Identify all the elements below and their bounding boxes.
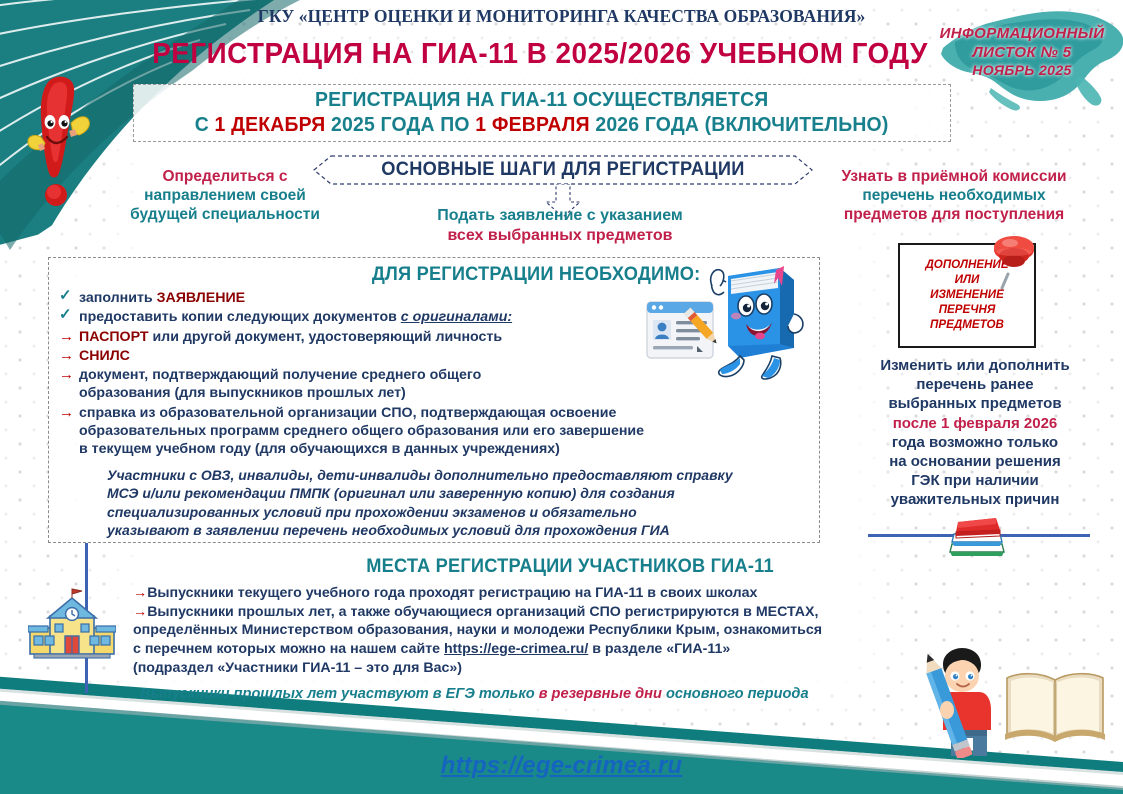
- right-note-line3: выбранных предметов: [840, 394, 1110, 413]
- requirement-6-line3: в текущем учебном году (для обучающихся …: [79, 441, 560, 457]
- disability-note-line4: указывают в заявлении перечень необходим…: [107, 521, 797, 539]
- callout-right-line1: Узнать в приёмной комиссии: [808, 168, 1100, 187]
- requirement-item-6: → справка из образовательной организации…: [59, 404, 699, 459]
- places-item-1: →Выпускники текущего учебного года прохо…: [133, 584, 923, 603]
- callout-left-line2: направлением своей: [110, 187, 340, 206]
- check-icon: ✓: [59, 305, 72, 324]
- subject-change-line5: ПРЕДМЕТОВ: [930, 318, 1004, 333]
- registration-period-line1: РЕГИСТРАЦИЯ НА ГИА-11 ОСУЩЕСТВЛЯЕТСЯ: [315, 89, 768, 112]
- places-title: МЕСТА РЕГИСТРАЦИИ УЧАСТНИКОВ ГИА-11: [138, 556, 1002, 578]
- period-suffix: 2026 ГОДА (ВКЛЮЧИТЕЛЬНО): [590, 114, 889, 136]
- reserve-days-note: Выпускники прошлых лет участвуют в ЕГЭ т…: [140, 686, 940, 702]
- right-note-line2: перечень ранее: [840, 375, 1110, 394]
- arrow-right-icon: →: [133, 604, 147, 620]
- period-middle: 2025 ГОДА ПО: [326, 114, 476, 136]
- requirements-list: ✓ заполнить ЗАЯВЛЕНИЕ ✓ предоставить коп…: [59, 289, 699, 459]
- requirement-5-line2: образования (для выпускников прошлых лет…: [79, 385, 406, 401]
- bulletin-label: ИНФОРМАЦИОННЫЙ ЛИСТОК № 5 НОЯБРЬ 2025: [929, 24, 1115, 80]
- pushpin-icon: [988, 230, 1044, 290]
- exclamation-mascot-icon: [25, 75, 95, 215]
- requirement-1-keyword: ЗАЯВЛЕНИЕ: [157, 290, 246, 306]
- callout-left-line3: будущей специальности: [110, 206, 340, 225]
- ege-crimea-inline-link[interactable]: https://ege-crimea.ru/: [444, 641, 588, 657]
- callout-left-line1: Определиться с: [110, 168, 340, 187]
- disability-note: Участники с ОВЗ, инвалиды, дети-инвалиды…: [107, 466, 797, 540]
- arrow-right-icon: →: [133, 585, 147, 601]
- requirements-title: ДЛЯ РЕГИСТРАЦИИ НЕОБХОДИМО:: [372, 264, 701, 286]
- callout-right-line2: перечень необходимых: [808, 187, 1100, 206]
- disability-note-line2: МСЭ и/или рекомендации ПМПК (оригинал ил…: [107, 484, 797, 502]
- book-character-icon: [690, 252, 808, 380]
- requirement-3-keyword: ПАСПОРТ: [79, 329, 149, 345]
- places-item-2-line1: Выпускники прошлых лет, а также обучающи…: [147, 604, 818, 620]
- period-end-date: 1 ФЕВРАЛЯ: [476, 114, 590, 136]
- bulletin-line2: ЛИСТОК № 5: [929, 43, 1115, 62]
- places-item-2-line3-suffix: в разделе «ГИА-11»: [588, 641, 730, 657]
- footer-link-container: https://ege-crimea.ru: [0, 752, 1123, 780]
- right-note-line5: года возможно только: [840, 433, 1110, 452]
- arrow-right-icon: →: [59, 346, 74, 365]
- registration-period-box: РЕГИСТРАЦИЯ НА ГИА-11 ОСУЩЕСТВЛЯЕТСЯ С 1…: [133, 84, 951, 142]
- right-note-line7: ГЭК при наличии: [840, 471, 1110, 490]
- places-item-2-line3-prefix: с перечнем которых можно на нашем сайте: [133, 641, 444, 657]
- period-start-date: 1 ДЕКАБРЯ: [215, 114, 326, 136]
- reserve-days-suffix: основного периода: [662, 686, 809, 702]
- requirement-6-line1: справка из образовательной организации С…: [79, 405, 616, 421]
- reserve-days-emphasis: в резервные дни: [539, 686, 662, 702]
- subject-change-note: Изменить или дополнить перечень ранее вы…: [840, 356, 1110, 510]
- right-note-line1: Изменить или дополнить: [840, 356, 1110, 375]
- requirement-3-text: или другой документ, удостоверяющий личн…: [149, 329, 503, 345]
- boy-with-pencil-and-book-icon: [915, 640, 1115, 758]
- bulletin-line1: ИНФОРМАЦИОННЫЙ: [929, 24, 1115, 43]
- requirement-4-keyword: СНИЛС: [79, 348, 130, 364]
- step-callout-left: Определиться с направлением своей будуще…: [110, 168, 340, 225]
- requirement-2-emphasis: с оригиналами:: [401, 309, 512, 325]
- step-callout-middle: Подать заявление с указанием всех выбран…: [380, 206, 740, 245]
- requirement-item-3: → ПАСПОРТ или другой документ, удостовер…: [59, 328, 699, 346]
- requirement-6-line2: образовательных программ среднего общего…: [79, 423, 644, 439]
- requirement-item-4: → СНИЛС: [59, 347, 699, 365]
- requirement-item-5: → документ, подтверждающий получение сре…: [59, 366, 699, 403]
- places-body: →Выпускники текущего учебного года прохо…: [133, 584, 923, 677]
- period-prefix: С: [195, 114, 215, 136]
- places-item-2-line2: определённых Министерством образования, …: [133, 622, 822, 638]
- step-callout-right: Узнать в приёмной комиссии перечень необ…: [808, 168, 1100, 225]
- arrow-right-icon: →: [59, 365, 74, 384]
- requirement-1-text: заполнить: [79, 290, 157, 306]
- book-stack-icon: [938, 498, 1016, 560]
- bulletin-line3: НОЯБРЬ 2025: [929, 62, 1115, 80]
- requirement-item-1: ✓ заполнить ЗАЯВЛЕНИЕ: [59, 289, 699, 307]
- arrow-right-icon: →: [59, 403, 74, 422]
- steps-ribbon: ОСНОВНЫЕ ШАГИ ДЛЯ РЕГИСТРАЦИИ: [313, 155, 813, 185]
- reserve-days-prefix: Выпускники прошлых лет участвуют в ЕГЭ т…: [140, 686, 539, 702]
- right-note-line6: на основании решения: [840, 452, 1110, 471]
- subject-change-line2: ИЛИ: [955, 273, 980, 288]
- requirement-2-text: предоставить копии следующих документов: [79, 309, 401, 325]
- arrow-right-icon: →: [59, 327, 74, 346]
- subject-change-line4: ПЕРЕЧНЯ: [939, 303, 996, 318]
- callout-right-line3: предметов для поступления: [808, 206, 1100, 225]
- registration-period-line2: С 1 ДЕКАБРЯ 2025 ГОДА ПО 1 ФЕВРАЛЯ 2026 …: [195, 114, 889, 137]
- disability-note-line3: специализированных условий при прохожден…: [107, 503, 797, 521]
- page-title: РЕГИСТРАЦИЯ НА ГИА-11 В 2025/2026 УЧЕБНО…: [118, 38, 963, 71]
- places-item-2-line4: (подраздел «Участники ГИА-11 – это для В…: [133, 660, 462, 676]
- places-item-2: →Выпускники прошлых лет, а также обучающ…: [133, 603, 923, 678]
- disability-note-line1: Участники с ОВЗ, инвалиды, дети-инвалиды…: [107, 466, 797, 484]
- callout-middle-line1: Подать заявление с указанием: [380, 206, 740, 226]
- requirement-item-2: ✓ предоставить копии следующих документо…: [59, 308, 699, 326]
- places-item-1-text: Выпускники текущего учебного года проход…: [147, 585, 757, 601]
- callout-middle-line2: всех выбранных предметов: [380, 226, 740, 246]
- requirement-5-line1: документ, подтверждающий получение средн…: [79, 367, 481, 383]
- subject-change-line3: ИЗМЕНЕНИЕ: [930, 288, 1004, 303]
- steps-ribbon-label: ОСНОВНЫЕ ШАГИ ДЛЯ РЕГИСТРАЦИИ: [323, 155, 803, 185]
- ege-crimea-footer-link[interactable]: https://ege-crimea.ru: [441, 752, 683, 779]
- right-note-deadline: после 1 февраля 2026: [840, 414, 1110, 433]
- check-icon: ✓: [59, 286, 72, 305]
- school-building-icon: [28, 586, 116, 662]
